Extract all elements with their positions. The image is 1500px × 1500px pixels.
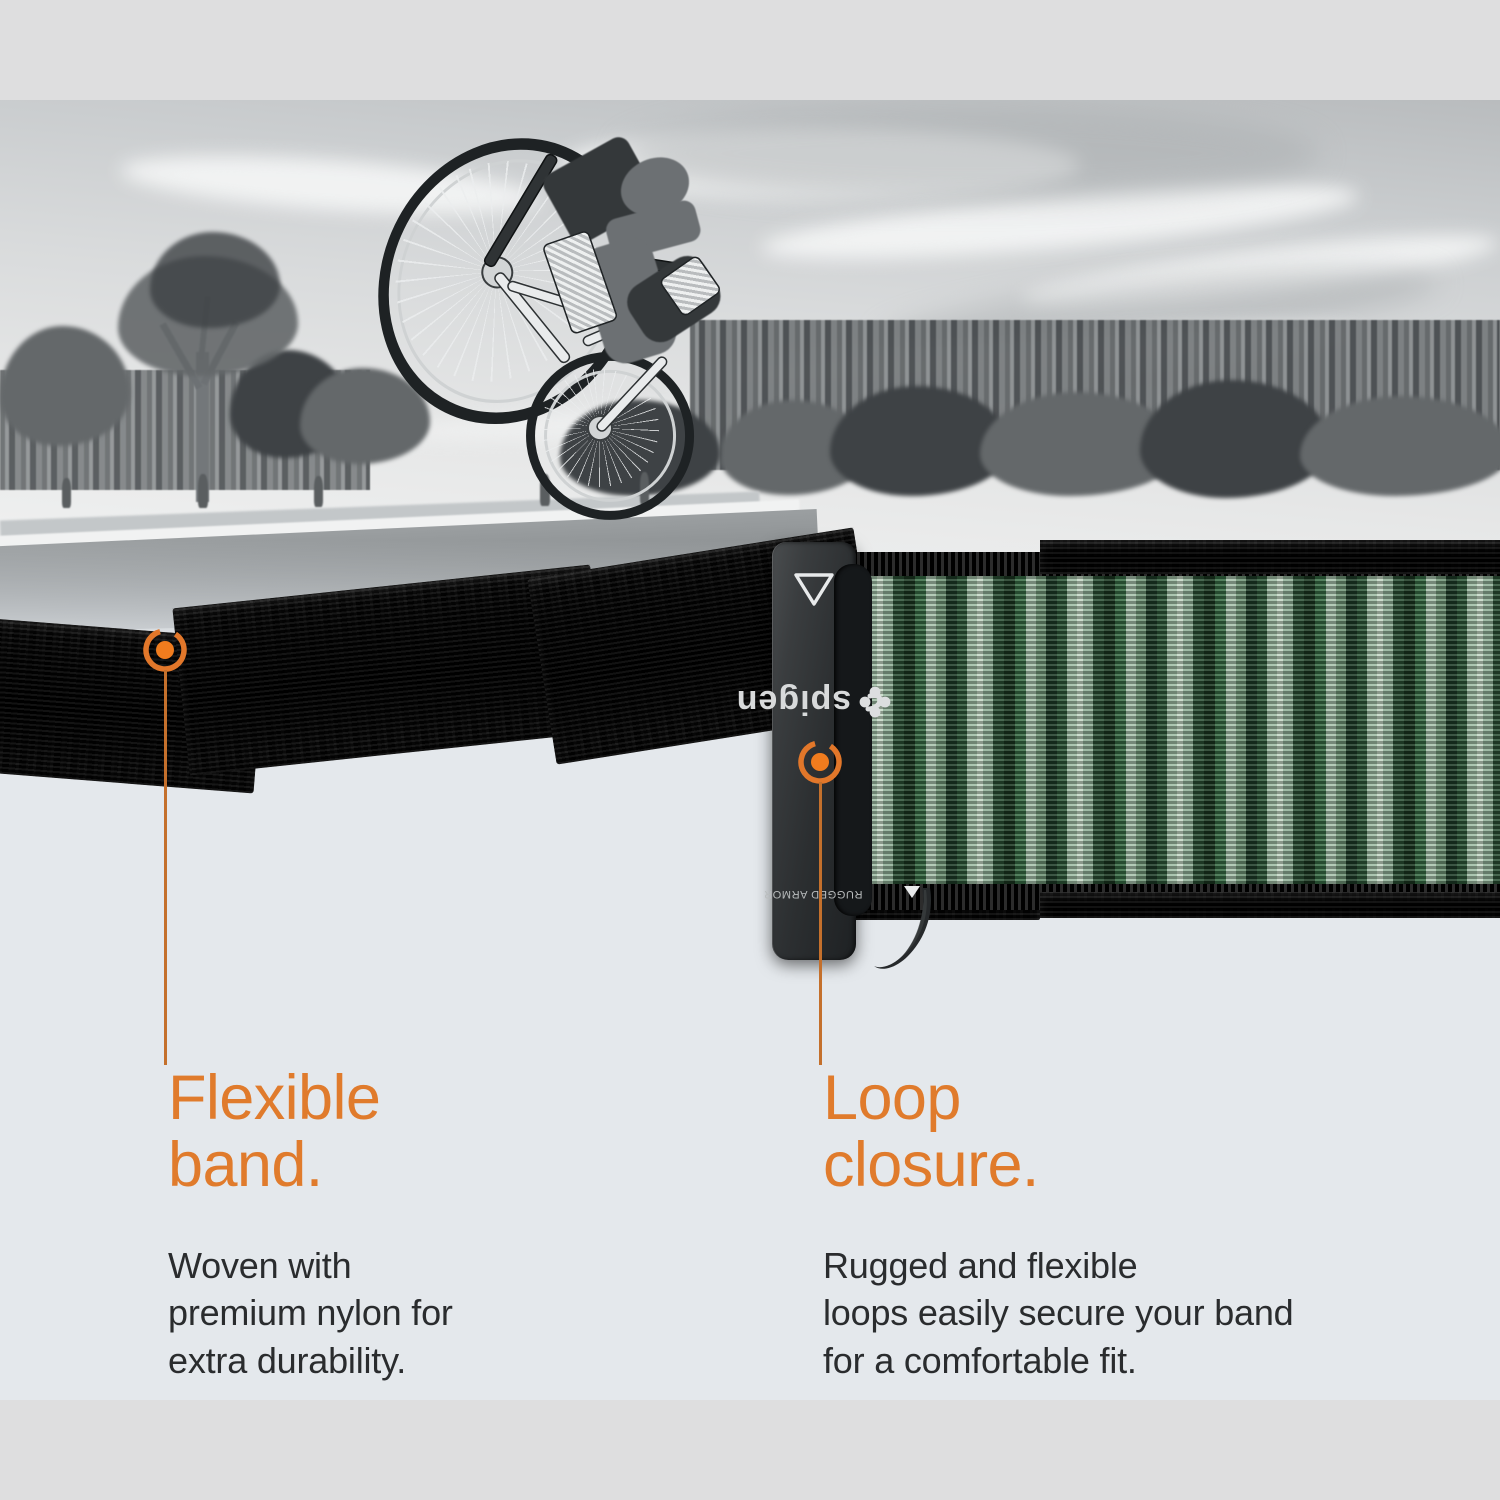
- black-webbing-far-right: [1040, 540, 1500, 574]
- callout-headline: Loop closure.: [823, 1065, 1463, 1200]
- product-feature-graphic: spigen RUGGED ARMOR Flexible band. Woven…: [0, 0, 1500, 1500]
- callout-leader-flexible-band: [164, 670, 167, 1065]
- callout-body: Woven with premium nylon for extra durab…: [168, 1242, 768, 1385]
- product-band: spigen RUGGED ARMOR: [0, 100, 1500, 1000]
- callout-loop-closure: Loop closure. Rugged and flexible loops …: [823, 1065, 1463, 1384]
- callout-marker-loop-closure[interactable]: [797, 739, 843, 785]
- content-card: spigen RUGGED ARMOR Flexible band. Woven…: [0, 100, 1500, 1400]
- black-webbing-far-right-lower: [1040, 892, 1500, 918]
- callout-marker-flexible-band[interactable]: [142, 627, 188, 673]
- spigen-logo: spigen: [716, 682, 912, 722]
- callout-headline: Flexible band.: [168, 1065, 768, 1200]
- spigen-wordmark: spigen: [736, 683, 852, 722]
- spigen-subtext: RUGGED ARMOR: [738, 884, 888, 900]
- callout-leader-loop-closure: [819, 782, 822, 1065]
- triangle-down-icon: [792, 570, 836, 608]
- green-webbing: [846, 576, 1500, 886]
- spigen-s-icon: [858, 685, 892, 719]
- callout-flexible-band: Flexible band. Woven with premium nylon …: [168, 1065, 768, 1384]
- callout-body: Rugged and flexible loops easily secure …: [823, 1242, 1463, 1385]
